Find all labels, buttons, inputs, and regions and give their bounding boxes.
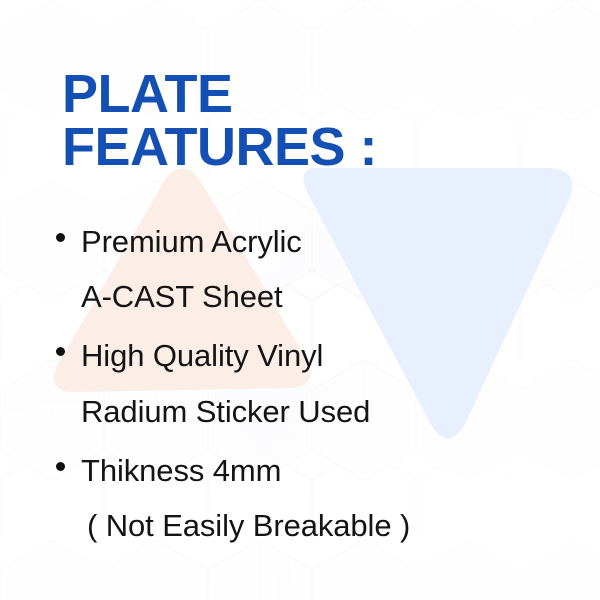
feature-line: A-CAST Sheet	[81, 269, 556, 324]
feature-line: Thikness 4mm	[81, 443, 556, 498]
list-item: High Quality Vinyl Radium Sticker Used	[56, 328, 556, 438]
content-layer: PLATE FEATURES : Premium Acrylic A-CAST …	[0, 0, 600, 600]
feature-list: Premium Acrylic A-CAST Sheet High Qualit…	[56, 214, 556, 557]
list-item-text: Premium Acrylic A-CAST Sheet	[81, 214, 556, 324]
bullet-dot-icon	[56, 347, 65, 356]
list-item-text: High Quality Vinyl Radium Sticker Used	[81, 328, 556, 438]
bullet-dot-icon	[56, 233, 65, 242]
feature-line: ( Not Easily Breakable )	[87, 498, 556, 553]
bullet-dot-icon	[56, 462, 65, 471]
feature-line: High Quality Vinyl	[81, 328, 556, 383]
list-item: Premium Acrylic A-CAST Sheet	[56, 214, 556, 324]
page-title: PLATE FEATURES :	[62, 68, 377, 174]
feature-line: Radium Sticker Used	[81, 384, 556, 439]
feature-line: Premium Acrylic	[81, 214, 556, 269]
list-item-text: Thikness 4mm ( Not Easily Breakable )	[81, 443, 556, 553]
list-item: Thikness 4mm ( Not Easily Breakable )	[56, 443, 556, 553]
promo-graphic: PLATE FEATURES : Premium Acrylic A-CAST …	[0, 0, 600, 600]
